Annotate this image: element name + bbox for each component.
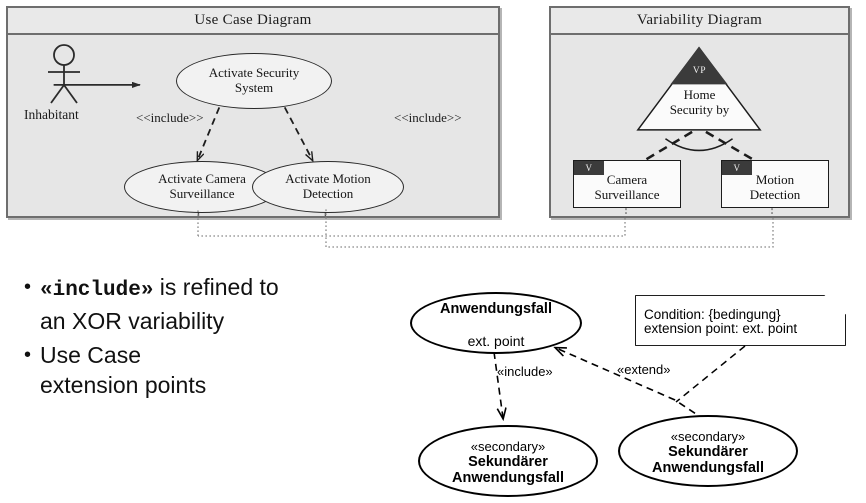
note-line-1: Condition: {bedingung}	[644, 307, 781, 322]
variation-point-line-2: Security by	[551, 103, 848, 118]
bullet-line-2: extension points	[40, 372, 206, 398]
bullet-stereotype-include: «include»	[40, 279, 153, 302]
edge-include-right	[285, 107, 313, 160]
uc-line-2: Surveillance	[170, 187, 235, 202]
trace-link-camera	[198, 218, 625, 236]
bullet-list: • «include» is refined to an XOR variabi…	[18, 272, 418, 404]
variation-point-tag: VP	[551, 66, 848, 76]
variant-line-2: Detection	[750, 188, 801, 203]
actor-stick-figure-icon	[36, 43, 92, 105]
edge-include-bottom	[494, 352, 503, 418]
panel-variability-diagram: Variability Diagram VP Home Security by …	[549, 6, 850, 218]
variant-tag: V	[574, 161, 604, 175]
use-case-activate-motion-detection[interactable]: Activate Motion Detection	[252, 161, 404, 213]
bullet-marker: •	[18, 340, 40, 370]
use-case-line-2: Anwendungsfall	[420, 470, 596, 486]
panel-body-use-case-diagram: Inhabitant Activate Security System Acti…	[8, 35, 498, 216]
panel-use-case-diagram: Use Case Diagram	[6, 6, 500, 218]
edge-extend-bottom	[556, 348, 705, 420]
use-case-line-2: Anwendungsfall	[620, 460, 796, 476]
variant-motion-detection[interactable]: V Motion Detection	[721, 160, 829, 208]
use-case-line-1: Sekundärer	[420, 454, 596, 470]
edge-note-anchor	[676, 346, 745, 402]
bullet-body: Use Case extension points	[40, 340, 206, 400]
variant-line-1: Motion	[750, 173, 801, 188]
use-case-anwendungsfall[interactable]: Anwendungsfall ext. point	[410, 292, 582, 354]
bullet-body: «include» is refined to an XOR variabili…	[40, 272, 279, 336]
use-case-extension-point: ext. point	[412, 333, 580, 349]
use-case-secondary-right[interactable]: «secondary» Sekundärer Anwendungsfall	[618, 415, 798, 487]
uc-line-1: Activate Security	[209, 66, 300, 81]
variant-tag: V	[722, 161, 752, 175]
uc-line-1: Activate Motion	[285, 172, 371, 187]
use-case-activate-security-system[interactable]: Activate Security System	[176, 53, 332, 109]
bullet-line-1: is refined to	[153, 274, 278, 300]
uc-line-2: System	[235, 81, 273, 96]
variant-line-2: Surveillance	[595, 188, 660, 203]
edge-vp-to-camera	[645, 132, 692, 160]
edge-vp-to-motion	[706, 132, 754, 160]
edge-label-extend: «extend»	[617, 362, 671, 377]
use-case-title: Anwendungsfall	[412, 301, 580, 317]
panel-title-variability-diagram: Variability Diagram	[551, 8, 848, 35]
edge-label-include-left: <<include>>	[136, 110, 204, 126]
trace-link-motion	[326, 218, 773, 247]
edge-label-include: «include»	[497, 364, 553, 379]
use-case-secondary-left[interactable]: «secondary» Sekundärer Anwendungsfall	[418, 425, 598, 497]
note-condition[interactable]: Condition: {bedingung} extension point: …	[636, 296, 845, 345]
bullet-line-1: Use Case	[40, 342, 141, 368]
uc-line-1: Activate Camera	[158, 172, 246, 187]
note-line-2: extension point: ext. point	[644, 321, 797, 336]
panel-title-use-case-diagram: Use Case Diagram	[8, 8, 498, 35]
list-item: • Use Case extension points	[18, 340, 418, 400]
use-case-line-1: Sekundärer	[620, 444, 796, 460]
list-item: • «include» is refined to an XOR variabi…	[18, 272, 418, 336]
uc-line-2: Detection	[303, 187, 354, 202]
variation-point-line-1: Home	[551, 88, 848, 103]
actor-label-inhabitant: Inhabitant	[24, 107, 79, 123]
stereotype-label: «secondary»	[620, 429, 796, 444]
stereotype-label: «secondary»	[420, 439, 596, 454]
slide-canvas: Use Case Diagram	[0, 0, 866, 503]
variant-line-1: Camera	[595, 173, 660, 188]
bullet-line-2: an XOR variability	[40, 308, 224, 334]
bullet-marker: •	[18, 272, 40, 302]
variant-camera-surveillance[interactable]: V Camera Surveillance	[573, 160, 681, 208]
panel-body-variability-diagram: VP Home Security by V Camera Surveillanc…	[551, 35, 848, 216]
edge-label-include-right: <<include>>	[394, 110, 462, 126]
